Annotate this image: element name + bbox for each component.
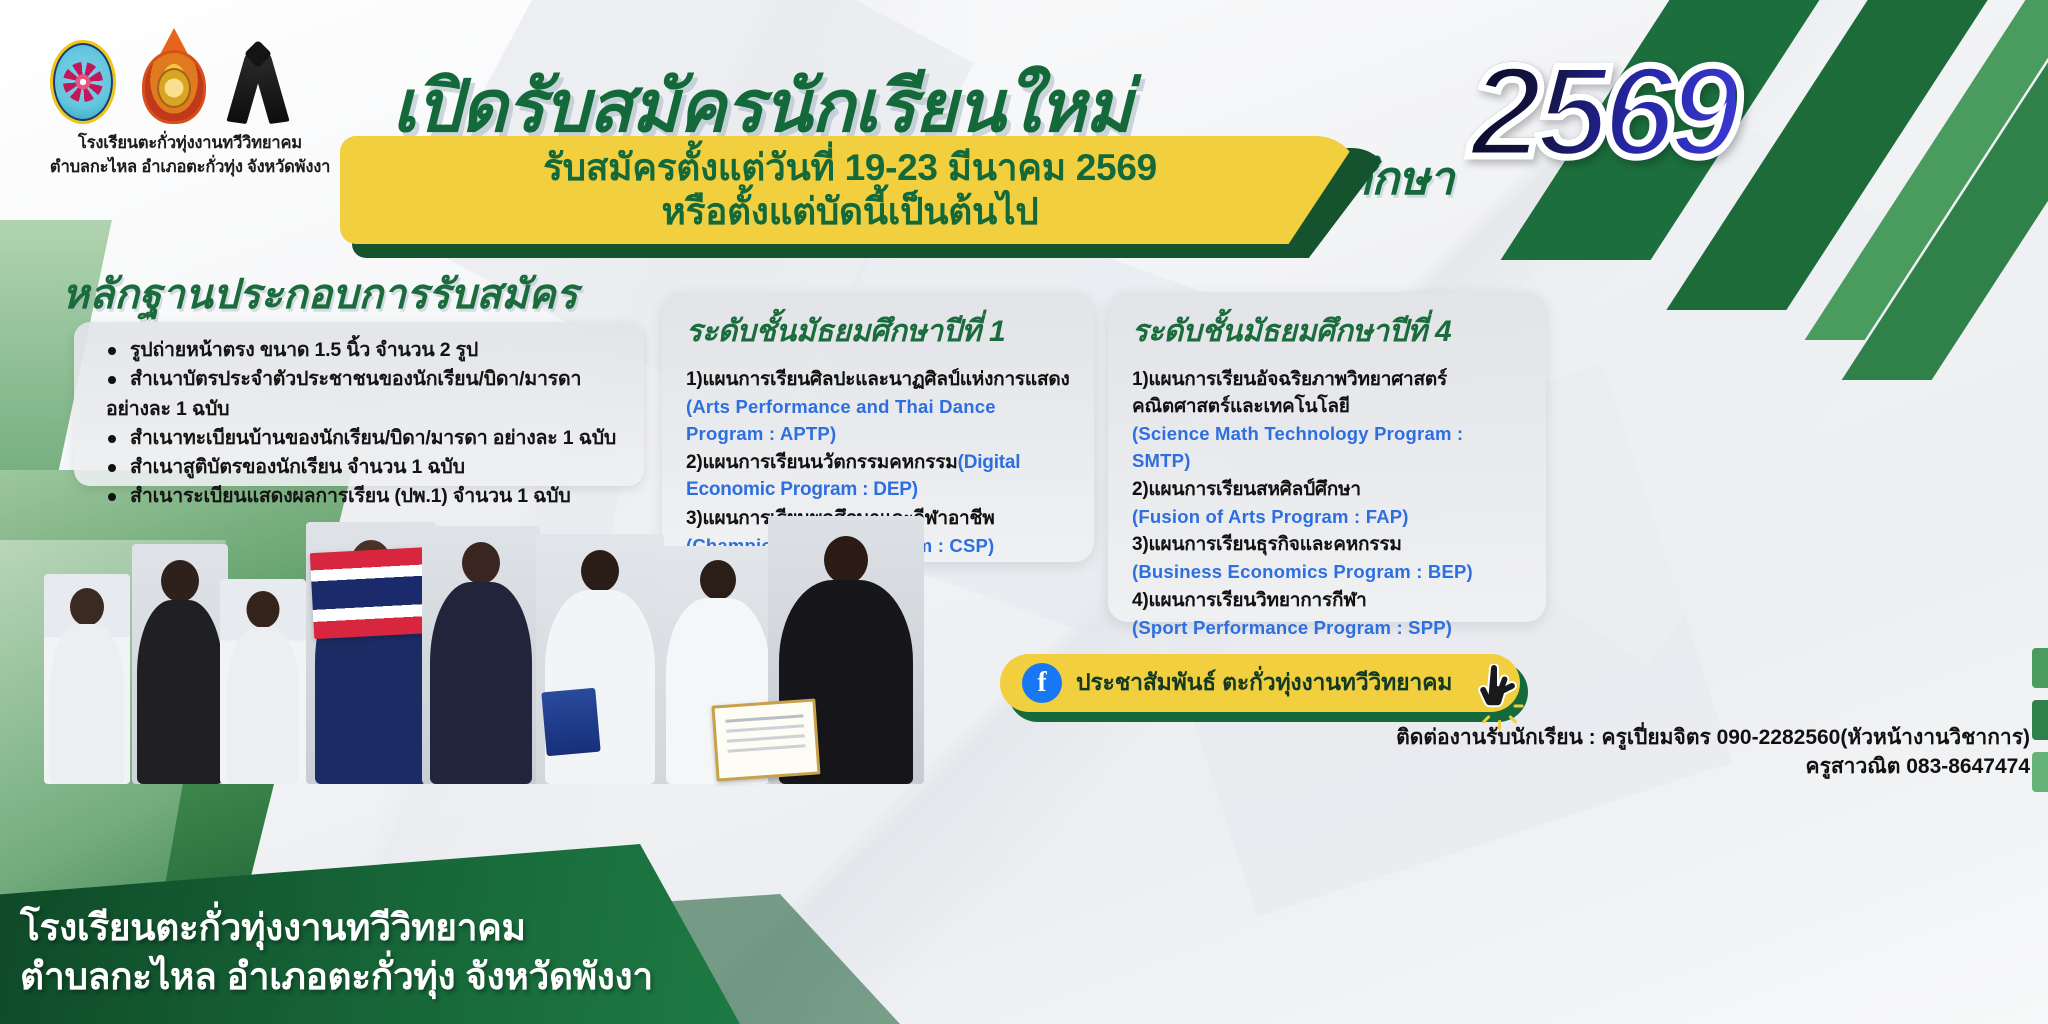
- list-item: สำเนาบัตรประจำตัวประชาชนของนักเรียน/บิดา…: [106, 365, 624, 424]
- contact-block: ติดต่องานรับนักเรียน : ครูเปี่ยมจิตร 090…: [950, 724, 2030, 782]
- footer-school-name: โรงเรียนตะกั่วทุ่งงานทวีวิทยาคม ตำบลกะไห…: [20, 904, 680, 1002]
- school-logo-caption: โรงเรียนตะกั่วทุ่งงานทวีวิทยาคม ตำบลกะไห…: [40, 132, 340, 180]
- edge-tab-decoration: [2032, 752, 2048, 792]
- student-photo-athlete: [422, 526, 540, 784]
- list-item: 3)แผนการเรียนธุรกิจและคหกรรม (Business E…: [1132, 532, 1524, 586]
- ministry-of-education-seal-icon: [138, 28, 210, 124]
- facebook-icon[interactable]: f: [1022, 663, 1062, 703]
- logo-row: [40, 28, 340, 124]
- black-mourning-ribbon-icon: [232, 36, 284, 124]
- program-m1-title: ระดับชั้นมัธยมศึกษาปีที่ 1: [686, 308, 1072, 355]
- certificate-folder: [541, 688, 600, 756]
- facebook-page-label: ประชาสัมพันธ์ ตะกั่วทุ่งงานทวีวิทยาคม: [1076, 665, 1452, 701]
- registration-dates: รับสมัครตั้งแต่วันที่ 19-23 มีนาคม 2569: [543, 146, 1157, 190]
- student-photo: [44, 574, 130, 784]
- list-item: สำเนาทะเบียนบ้านของนักเรียน/บิดา/มารดา อ…: [106, 424, 624, 453]
- academic-year-number: 2569: [1470, 46, 1735, 176]
- footer-school-name-line1: โรงเรียนตะกั่วทุ่งงานทวีวิทยาคม: [20, 904, 680, 953]
- edge-tab-decoration: [2032, 648, 2048, 688]
- documents-list: รูปถ่ายหน้าตรง ขนาด 1.5 นิ้ว จำนวน 2 รูป…: [106, 336, 624, 512]
- thai-flag: [310, 547, 436, 639]
- registration-date-banner: รับสมัครตั้งแต่วันที่ 19-23 มีนาคม 2569 …: [340, 136, 1360, 244]
- list-item: 1)แผนการเรียนศิลปะและนาฏศิลป์แห่งการแสดง…: [686, 367, 1072, 448]
- certificate-document: [711, 698, 820, 781]
- list-item: 1)แผนการเรียนอัจฉริยภาพวิทยาศาสตร์ คณิตศ…: [1132, 367, 1524, 475]
- program-m4-list: 1)แผนการเรียนอัจฉริยภาพวิทยาศาสตร์ คณิตศ…: [1132, 367, 1524, 642]
- documents-card: รูปถ่ายหน้าตรง ขนาด 1.5 นิ้ว จำนวน 2 รูป…: [74, 322, 644, 486]
- student-photo: [132, 544, 228, 784]
- list-item: สำเนาสูติบัตรของนักเรียน จำนวน 1 ฉบับ: [106, 453, 624, 482]
- program-m4-title: ระดับชั้นมัธยมศึกษาปีที่ 4: [1132, 308, 1524, 355]
- student-photo-strip: [24, 494, 924, 784]
- school-seal-icon: [50, 40, 116, 124]
- program-card-m4: ระดับชั้นมัธยมศึกษาปีที่ 4 1)แผนการเรียน…: [1108, 292, 1546, 622]
- documents-heading: หลักฐานประกอบการรับสมัคร: [62, 262, 578, 327]
- facebook-page-button[interactable]: f ประชาสัมพันธ์ ตะกั่วทุ่งงานทวีวิทยาคม: [1000, 654, 1520, 712]
- footer-school-address: ตำบลกะไหล อำเภอตะกั่วทุ่ง จังหวัดพังงา: [20, 953, 680, 1002]
- list-item: 4)แผนการเรียนวิทยาการกีฬา (Sport Perform…: [1132, 588, 1524, 642]
- registration-note: หรือตั้งแต่บัดนี้เป็นต้นไป: [661, 190, 1038, 234]
- hand-pointer-cursor-icon: [1478, 664, 1520, 716]
- student-photo: [220, 579, 306, 784]
- contact-person-1: ครูเปี่ยมจิตร 090-2282560(หัวหน้างานวิชา…: [1602, 726, 2030, 749]
- list-item: 2)แผนการเรียนสหศิลป์ศึกษา (Fusion of Art…: [1132, 477, 1524, 531]
- contact-person-2: ครูสาวณิต 083-8647474: [1806, 755, 2030, 778]
- contact-label: ติดต่องานรับนักเรียน :: [1396, 726, 1596, 749]
- school-logo-block: โรงเรียนตะกั่วทุ่งงานทวีวิทยาคม ตำบลกะไห…: [40, 28, 340, 180]
- poster-canvas: โรงเรียนตะกั่วทุ่งงานทวีวิทยาคม ตำบลกะไห…: [0, 0, 2048, 1024]
- school-name-line1: โรงเรียนตะกั่วทุ่งงานทวีวิทยาคม: [40, 132, 340, 156]
- edge-tab-decoration: [2032, 700, 2048, 740]
- contact-row-1: ติดต่องานรับนักเรียน : ครูเปี่ยมจิตร 090…: [950, 724, 2030, 753]
- list-item: รูปถ่ายหน้าตรง ขนาด 1.5 นิ้ว จำนวน 2 รูป: [106, 336, 624, 365]
- contact-row-2: ครูสาวณิต 083-8647474: [950, 753, 2030, 782]
- school-address-line: ตำบลกะไหล อำเภอตะกั่วทุ่ง จังหวัดพังงา: [40, 156, 340, 180]
